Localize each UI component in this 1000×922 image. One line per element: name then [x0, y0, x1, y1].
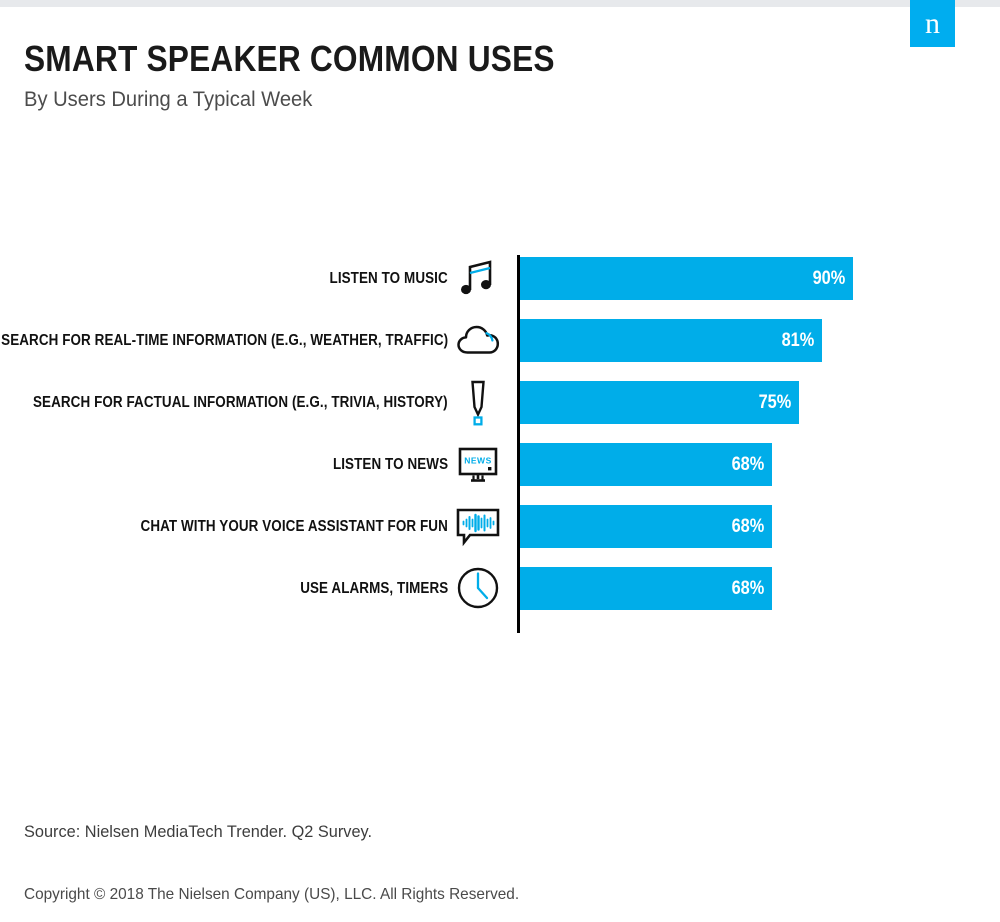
copyright-note: Copyright © 2018 The Nielsen Company (US… — [24, 886, 519, 904]
bar: 68% — [519, 443, 772, 486]
cloud-icon — [452, 314, 504, 366]
chart-row: CHAT WITH YOUR VOICE ASSISTANT FOR FUN — [0, 505, 1000, 548]
bar: 75% — [519, 381, 799, 424]
row-label: SEARCH FOR FACTUAL INFORMATION (E.G., TR… — [33, 381, 448, 424]
page-subtitle: By Users During a Typical Week — [24, 88, 603, 112]
bar: 81% — [519, 319, 822, 362]
chart-row: USE ALARMS, TIMERS 68% — [0, 567, 1000, 610]
voice-chat-bubble-icon — [452, 500, 504, 552]
chart-row: LISTEN TO NEWS NEWS 68% — [0, 443, 1000, 486]
svg-text:NEWS: NEWS — [464, 456, 492, 466]
row-label: SEARCH FOR REAL-TIME INFORMATION (E.G., … — [1, 319, 448, 362]
row-label: CHAT WITH YOUR VOICE ASSISTANT FOR FUN — [141, 505, 448, 548]
row-label: LISTEN TO MUSIC — [330, 257, 448, 300]
header: SMART SPEAKER COMMON USES By Users Durin… — [24, 40, 627, 112]
music-note-icon — [452, 252, 504, 304]
bar-value-label: 90% — [813, 268, 853, 290]
chart-row: LISTEN TO MUSIC 90% — [0, 257, 1000, 300]
top-divider — [0, 0, 1000, 7]
clock-icon — [452, 562, 504, 614]
nielsen-logo-glyph: n — [910, 0, 955, 47]
bar: 90% — [519, 257, 853, 300]
bar-chart: LISTEN TO MUSIC 90% SEARCH FOR REAL-TIME… — [0, 255, 1000, 633]
category-axis-line — [517, 255, 520, 633]
page-title: SMART SPEAKER COMMON USES — [24, 40, 555, 78]
news-monitor-icon: NEWS — [452, 438, 504, 490]
chart-row: SEARCH FOR REAL-TIME INFORMATION (E.G., … — [0, 319, 1000, 362]
source-note: Source: Nielsen MediaTech Trender. Q2 Su… — [24, 822, 372, 842]
bar: 68% — [519, 505, 772, 548]
row-label: LISTEN TO NEWS — [333, 443, 448, 486]
bar-value-label: 81% — [782, 330, 822, 352]
bar-value-label: 68% — [732, 454, 772, 476]
bar-value-label: 68% — [732, 516, 772, 538]
chart-row: SEARCH FOR FACTUAL INFORMATION (E.G., TR… — [0, 381, 1000, 424]
row-label: USE ALARMS, TIMERS — [300, 567, 448, 610]
bar: 68% — [519, 567, 772, 610]
exclamation-mark-icon — [452, 376, 504, 428]
bar-value-label: 68% — [732, 578, 772, 600]
bar-value-label: 75% — [759, 392, 799, 414]
nielsen-logo: n — [910, 0, 955, 47]
